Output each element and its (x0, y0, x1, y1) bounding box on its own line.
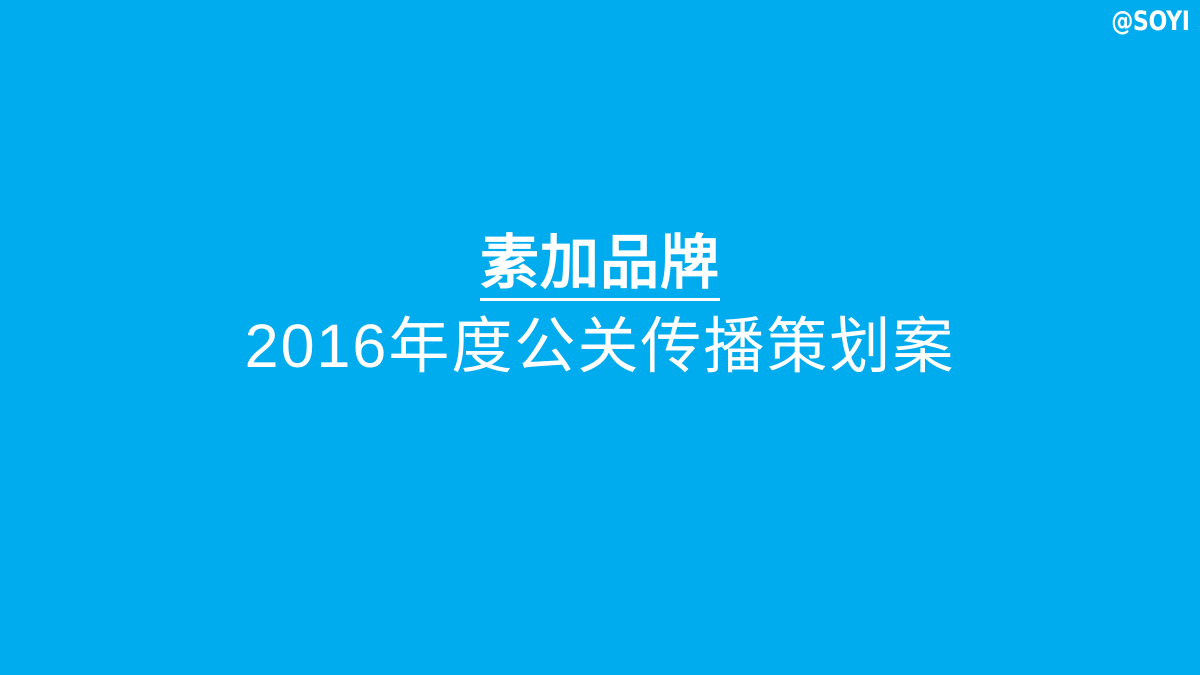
title-block: 素加品牌 2016年度公关传播策划案 (0, 232, 1200, 380)
page-title-primary: 素加品牌 (480, 232, 720, 301)
watermark-label: @SOYI (1112, 8, 1190, 35)
title-slide: @SOYI 素加品牌 2016年度公关传播策划案 (0, 0, 1200, 675)
page-title-secondary: 2016年度公关传播策划案 (0, 313, 1200, 380)
